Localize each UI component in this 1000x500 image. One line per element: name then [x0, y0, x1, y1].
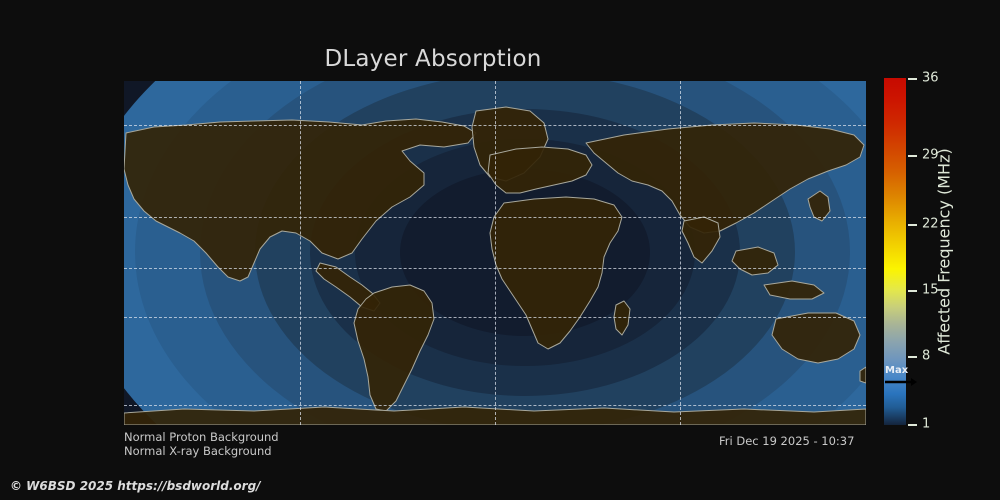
colorbar-tick-36 [908, 78, 917, 80]
gridline-longitude-2 [495, 81, 496, 425]
africa [490, 197, 622, 349]
gridline-latitude-4 [124, 317, 866, 318]
credit-footer: © W6BSD 2025 https://bsdworld.org/ [10, 479, 261, 493]
gridline-longitude-1 [300, 81, 301, 425]
colorbar-max-label: Max [884, 366, 918, 376]
new-zealand [860, 367, 866, 383]
colorbar-tick-8 [908, 356, 917, 358]
gridline-latitude-1 [124, 125, 866, 126]
south-america [354, 285, 434, 411]
gridline-latitude-5 [124, 405, 866, 406]
page-title: DLayer Absorption [0, 46, 866, 72]
xray-background-note: Normal X-ray Background [124, 444, 272, 458]
madagascar [614, 301, 630, 335]
colorbar-tick-1 [908, 424, 917, 426]
colorbar-tick-15 [908, 290, 917, 292]
australia [772, 313, 860, 363]
colorbar-axis-title-text: Affected Frequency (MHz) [935, 148, 954, 354]
gridline-longitude-3 [680, 81, 681, 425]
dlayer-absorption-screen: DLayer Absorption [0, 0, 1000, 500]
max-arrow-icon [885, 378, 917, 386]
gridline-latitude-2 [124, 217, 866, 218]
world-map[interactable] [124, 81, 866, 425]
gridline-latitude-3 [124, 268, 866, 269]
colorbar-axis-title: Affected Frequency (MHz) [932, 78, 956, 425]
colorbar-tick-29 [908, 155, 917, 157]
colorbar-label-8: 8 [922, 349, 930, 364]
timestamp: Fri Dec 19 2025 - 10:37 [719, 434, 854, 448]
europe [488, 147, 592, 193]
colorbar-tick-22 [908, 224, 917, 226]
colorbar-max-marker: Max [884, 366, 918, 388]
indonesia [764, 281, 824, 299]
india [682, 217, 720, 263]
southeast-asia [732, 247, 778, 275]
colorbar-label-1: 1 [922, 417, 930, 432]
proton-background-note: Normal Proton Background [124, 430, 279, 444]
